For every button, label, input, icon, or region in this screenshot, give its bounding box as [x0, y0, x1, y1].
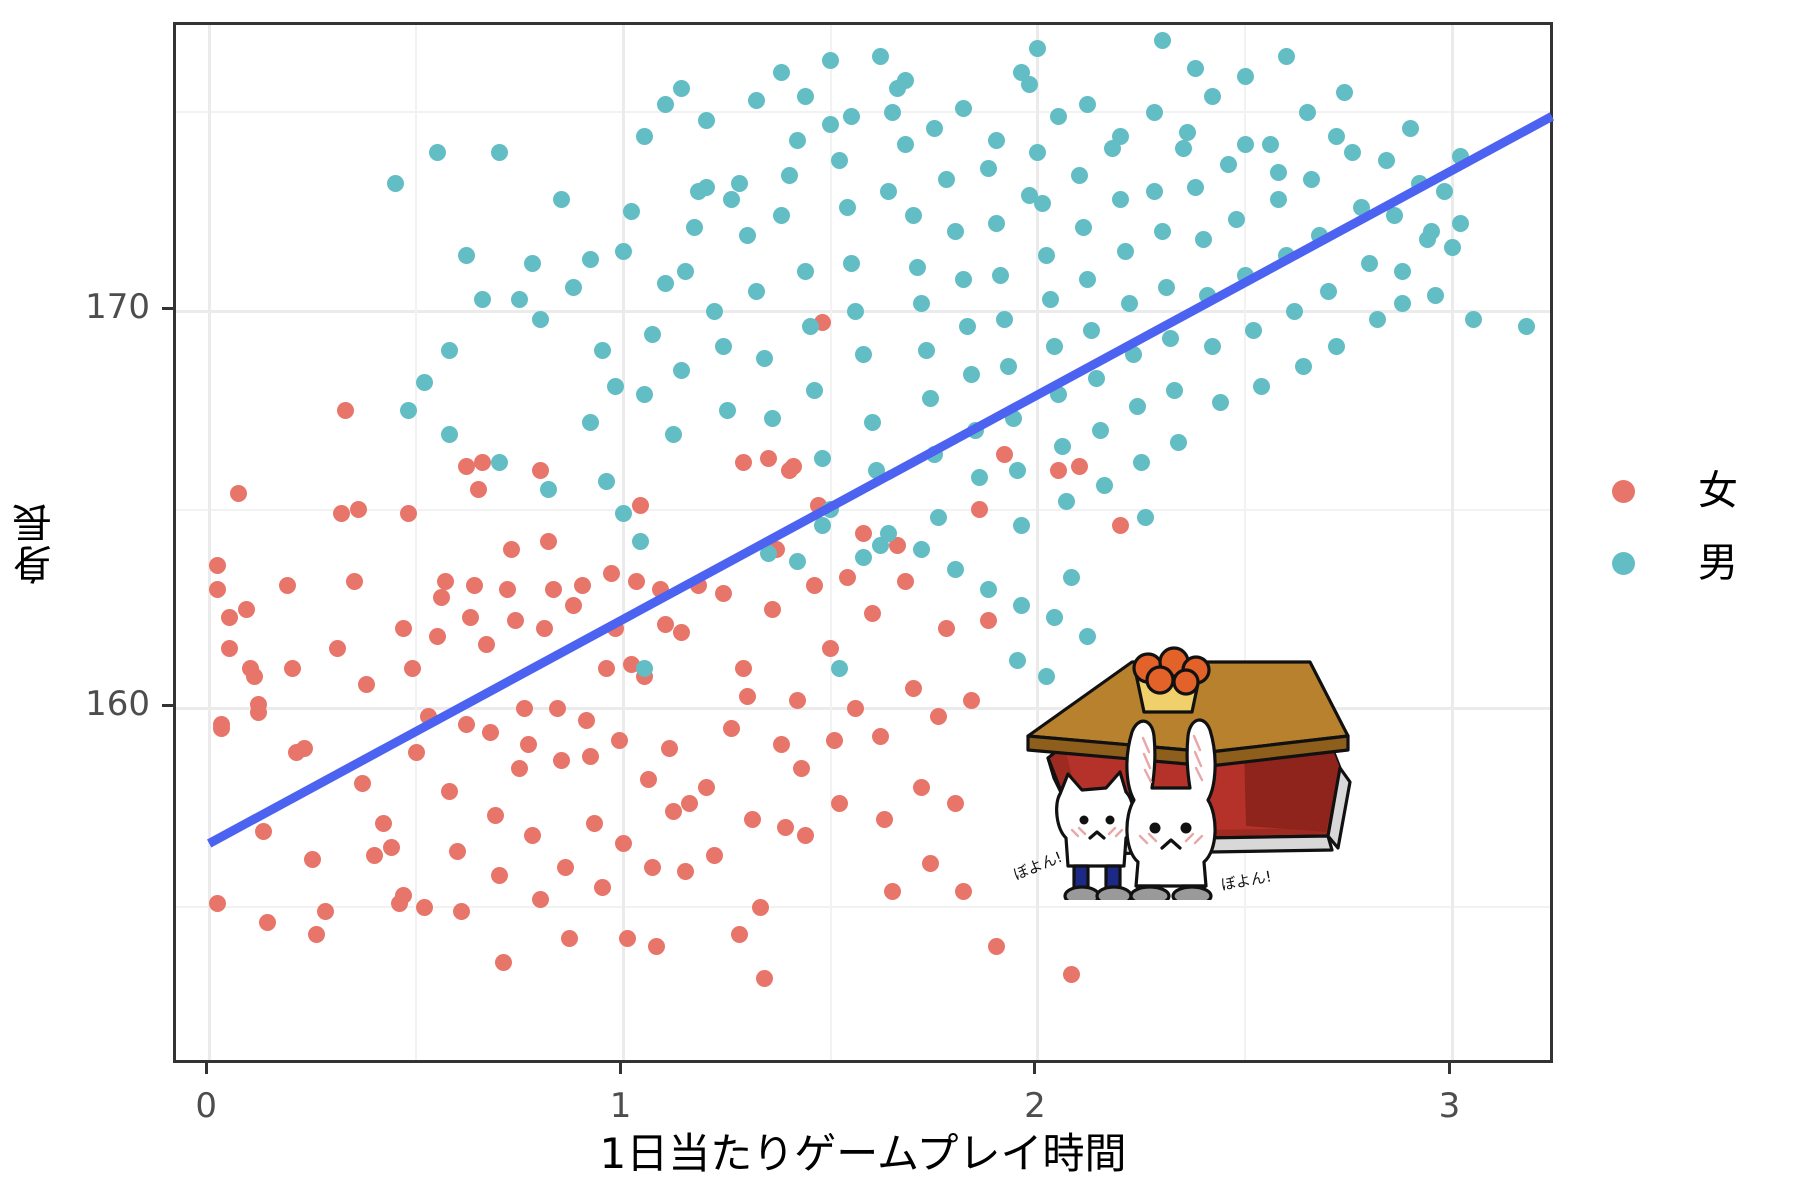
legend-key-male — [1600, 540, 1646, 586]
x-tick-mark — [205, 1063, 208, 1074]
y-tick-label: 160 — [0, 687, 150, 721]
x-tick-label: 0 — [166, 1089, 246, 1123]
legend-label-female: 女 — [1698, 471, 1738, 511]
y-tick-mark — [162, 307, 173, 310]
x-tick-mark — [619, 1063, 622, 1074]
legend-label-male: 男 — [1698, 543, 1738, 583]
regression-line-layer — [176, 25, 1556, 1066]
legend-dot-male — [1612, 552, 1635, 575]
chart-root: 身長 1601700123 1日当たりゲームプレイ時間 女 男 — [0, 0, 1800, 1200]
x-tick-label: 3 — [1409, 1089, 1489, 1123]
y-axis-label: 身長 — [6, 0, 66, 1085]
y-tick-label: 170 — [0, 290, 150, 324]
x-axis-label: 1日当たりゲームプレイ時間 — [173, 1120, 1553, 1181]
legend-key-female — [1600, 468, 1646, 514]
sound-text-left: ぼよん! — [1011, 848, 1065, 884]
x-tick-label: 1 — [581, 1089, 661, 1123]
legend-item-female[interactable]: 女 — [1600, 455, 1790, 527]
legend: 女 男 — [1600, 455, 1790, 599]
x-tick-mark — [1448, 1063, 1451, 1074]
legend-dot-female — [1612, 480, 1635, 503]
y-axis-label-text: 身長 — [7, 501, 65, 585]
kotatsu-rabbit-cat-illustration: ぼよん! ぼよん! — [1010, 640, 1360, 900]
x-tick-label: 2 — [995, 1089, 1075, 1123]
plot-panel — [173, 22, 1553, 1063]
legend-item-male[interactable]: 男 — [1600, 527, 1790, 599]
sound-text-right: ぼよん! — [1220, 867, 1273, 894]
x-tick-mark — [1033, 1063, 1036, 1074]
y-tick-mark — [162, 704, 173, 707]
